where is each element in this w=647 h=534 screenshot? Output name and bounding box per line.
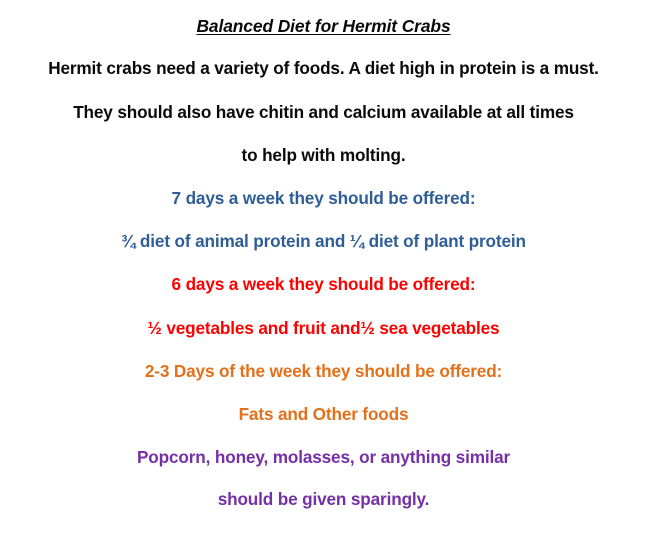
occasional-feeding-heading: 2-3 Days of the week they should be offe… xyxy=(0,363,647,380)
six-day-feeding-heading: 6 days a week they should be offered: xyxy=(0,276,647,293)
line-spacer xyxy=(0,250,647,276)
intro-line-3: to help with molting. xyxy=(0,147,647,164)
intro-line-2: They should also have chitin and calcium… xyxy=(0,104,647,121)
title-spacer xyxy=(0,35,647,60)
sparing-feeding-line-1: Popcorn, honey, molasses, or anything si… xyxy=(0,449,647,466)
occasional-feeding-detail: Fats and Other foods xyxy=(0,406,647,423)
intro-line-1: Hermit crabs need a variety of foods. A … xyxy=(0,60,647,77)
line-spacer xyxy=(0,337,647,363)
daily-feeding-detail: ¾ diet of animal protein and ¼ diet of p… xyxy=(0,233,647,250)
line-spacer xyxy=(0,294,647,320)
daily-feeding-heading: 7 days a week they should be offered: xyxy=(0,190,647,207)
line-spacer xyxy=(0,466,647,491)
sparing-feeding-line-2: should be given sparingly. xyxy=(0,491,647,508)
page-title: Balanced Diet for Hermit Crabs xyxy=(0,18,647,35)
document-page: Balanced Diet for Hermit Crabs Hermit cr… xyxy=(0,0,647,534)
six-day-feeding-detail: ½ vegetables and fruit and½ sea vegetabl… xyxy=(0,320,647,337)
line-spacer xyxy=(0,423,647,449)
line-spacer xyxy=(0,164,647,190)
line-spacer xyxy=(0,380,647,406)
line-spacer xyxy=(0,78,647,104)
line-spacer xyxy=(0,121,647,147)
line-spacer xyxy=(0,207,647,233)
